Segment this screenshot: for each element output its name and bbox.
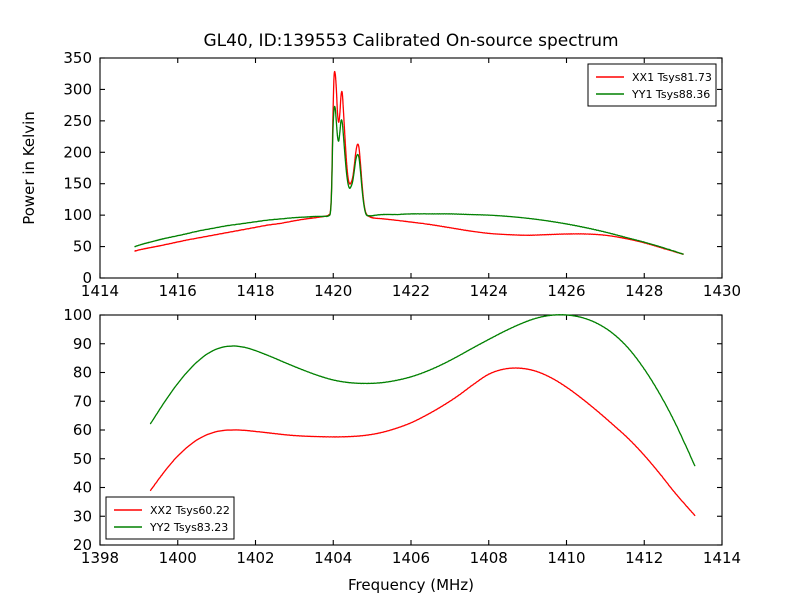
y-tick-label: 70 [73, 392, 92, 410]
legend-label: YY2 Tsys83.23 [149, 521, 228, 534]
x-tick-label: 1400 [159, 549, 197, 567]
figure-canvas: 1414141614181420142214241426142814300501… [0, 0, 800, 600]
y-tick-label: 80 [73, 364, 92, 382]
legend-lower-spectrum: XX2 Tsys60.22YY2 Tsys83.23 [106, 497, 234, 539]
x-tick-label: 1422 [392, 282, 430, 300]
series-line-yy2 [151, 315, 695, 466]
y-tick-label: 20 [73, 536, 92, 554]
y-tick-label: 40 [73, 479, 92, 497]
y-tick-label: 300 [63, 80, 92, 98]
y-tick-label: 50 [73, 450, 92, 468]
y-tick-label: 50 [73, 238, 92, 256]
y-tick-label: 90 [73, 335, 92, 353]
y-tick-label: 200 [63, 143, 92, 161]
axes-panel-lower-spectrum: 1398140014021404140614081410141214142030… [63, 306, 741, 594]
y-tick-label: 250 [63, 112, 92, 130]
x-tick-label: 1426 [547, 282, 585, 300]
y-tick-label: 150 [63, 175, 92, 193]
x-axis-label: Frequency (MHz) [348, 576, 474, 594]
x-tick-label: 1424 [470, 282, 508, 300]
x-tick-label: 1416 [159, 282, 197, 300]
x-tick-label: 1430 [703, 282, 741, 300]
x-tick-label: 1412 [625, 549, 663, 567]
y-tick-label: 100 [63, 206, 92, 224]
y-axis-label: Power in Kelvin [20, 111, 38, 225]
legend-label: YY1 Tsys88.36 [631, 88, 710, 101]
x-tick-label: 1428 [625, 282, 663, 300]
y-tick-label: 60 [73, 421, 92, 439]
axes-panel-upper-spectrum: 1414141614181420142214241426142814300501… [20, 31, 741, 300]
x-tick-label: 1420 [314, 282, 352, 300]
x-tick-label: 1408 [470, 549, 508, 567]
series-line-xx2 [151, 368, 695, 515]
y-tick-label: 30 [73, 507, 92, 525]
x-tick-label: 1414 [703, 549, 741, 567]
y-tick-label: 0 [82, 269, 92, 287]
legend-label: XX2 Tsys60.22 [150, 504, 230, 517]
legend-label: XX1 Tsys81.73 [632, 71, 712, 84]
plot-title: GL40, ID:139553 Calibrated On-source spe… [203, 31, 618, 51]
y-tick-label: 100 [63, 306, 92, 324]
x-tick-label: 1418 [236, 282, 274, 300]
y-tick-label: 350 [63, 49, 92, 67]
x-tick-label: 1410 [547, 549, 585, 567]
x-tick-label: 1406 [392, 549, 430, 567]
legend-upper-spectrum: XX1 Tsys81.73YY1 Tsys88.36 [588, 64, 716, 106]
x-tick-label: 1402 [236, 549, 274, 567]
series-line-yy1 [135, 106, 683, 254]
x-tick-label: 1404 [314, 549, 352, 567]
matplotlib-figure: 1414141614181420142214241426142814300501… [0, 0, 800, 600]
